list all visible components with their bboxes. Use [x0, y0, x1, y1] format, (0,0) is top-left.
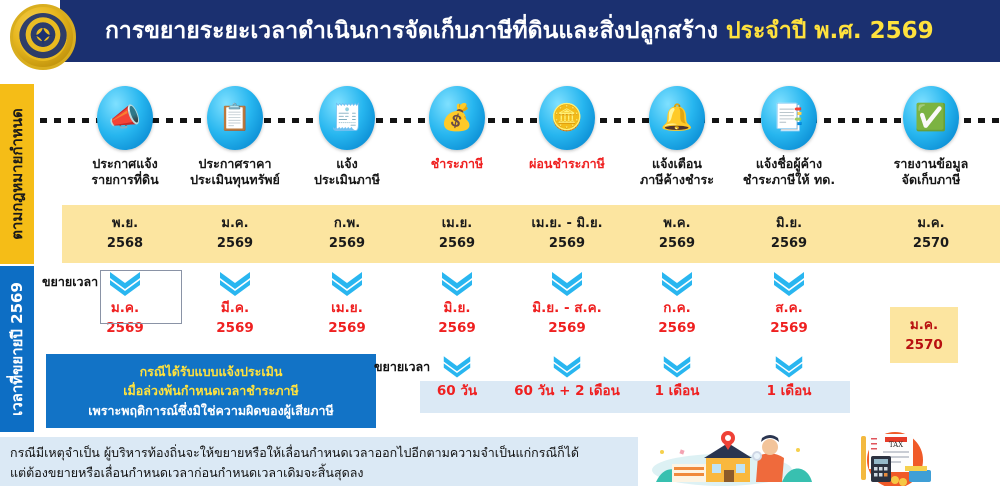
duration-text: 60 วัน: [398, 385, 516, 399]
statutory-year: 2568: [107, 234, 143, 254]
statutory-month-cell-5: เม.ย. - มิ.ย.2569: [508, 205, 626, 263]
svg-text:TAX: TAX: [889, 441, 903, 449]
timeline-step-4: 💰ชำระภาษี: [398, 86, 516, 172]
duration-cell-4: 1 เดือน: [730, 352, 848, 399]
statutory-month: ม.ค.: [221, 214, 248, 234]
step-label-line: รายการที่ดิน: [66, 172, 184, 188]
extended-month: มี.ค.: [176, 299, 294, 319]
statutory-month: ม.ค.: [917, 214, 944, 234]
page-header: การขยายระยะเวลาดำเนินการจัดเก็บภาษีที่ดิ…: [60, 0, 1000, 62]
extended-month: เม.ย.: [288, 299, 406, 319]
step-label-line: แจ้ง: [288, 156, 406, 172]
report-checklist-icon: ✅: [903, 86, 959, 150]
extended-month-cell-4: มิ.ย.2569: [398, 268, 516, 338]
timeline-step-3: 🧾แจ้งประเมินภาษี: [288, 86, 406, 188]
extended-month-text: เม.ย.2569: [288, 299, 406, 338]
timeline-step-5: 🪙ผ่อนชำระภาษี: [508, 86, 626, 172]
timeline-step-8: ✅รายงานข้อมูลจัดเก็บภาษี: [872, 86, 990, 188]
extended-month-cell-7: ส.ค.2569: [730, 268, 848, 338]
timeline-step-2: 📋ประกาศราคาประเมินทุนทรัพย์: [176, 86, 294, 188]
double-chevron-down-icon: [508, 352, 626, 380]
clipboard-appraisal-icon: 📋: [207, 86, 263, 150]
extended-month-cell-5: มิ.ย. - ส.ค.2569: [508, 268, 626, 338]
selection-highlight-box[interactable]: [100, 270, 182, 324]
step-label-line: ชำระภาษี: [398, 156, 516, 172]
step-label-line: ภาษีค้างชำระ: [618, 172, 736, 188]
timeline-step-1: 📣ประกาศแจ้งรายการที่ดิน: [66, 86, 184, 188]
extended-month: มิ.ย.: [398, 299, 516, 319]
timeline-steps: 📣ประกาศแจ้งรายการที่ดิน📋ประกาศราคาประเมิ…: [0, 86, 1000, 201]
step-label-line: รายงานข้อมูล: [872, 156, 990, 172]
double-chevron-down-icon: [176, 268, 294, 298]
title-year: ประจำปี พ.ศ. 2569: [726, 18, 934, 44]
timeline-step-label-4: ชำระภาษี: [398, 156, 516, 172]
statutory-year: 2569: [329, 234, 365, 254]
extended-year: 2569: [618, 319, 736, 339]
double-chevron-down-icon: [288, 268, 406, 298]
tax-calculator-icon: 🧾: [319, 86, 375, 150]
statutory-month-cell-7: มิ.ย.2569: [730, 205, 848, 263]
timeline-step-7: 📑แจ้งชื่อผู้ค้างชำระภาษีให้ ทด.: [730, 86, 848, 188]
statutory-month-cell-8: ม.ค.2570: [872, 205, 990, 263]
double-chevron-down-icon: [618, 352, 736, 380]
double-chevron-down-icon: [618, 268, 736, 298]
double-chevron-down-icon: [508, 268, 626, 298]
extended-year: 2569: [508, 319, 626, 339]
house-inspector-illustration: [650, 430, 820, 486]
extended-month: มิ.ย. - ส.ค.: [508, 299, 626, 319]
statutory-month: พ.ย.: [112, 214, 138, 234]
statutory-month: เม.ย. - มิ.ย.: [531, 214, 602, 234]
step-label-line: ประกาศแจ้ง: [66, 156, 184, 172]
step-label-line: แจ้งเตือน: [618, 156, 736, 172]
statutory-month-cell-3: ก.พ.2569: [288, 205, 406, 263]
timeline-step-label-1: ประกาศแจ้งรายการที่ดิน: [66, 156, 184, 188]
timeline-step-label-3: แจ้งประเมินภาษี: [288, 156, 406, 188]
extended-month-text: ส.ค.2569: [730, 299, 848, 338]
coin-drop-hand-icon: 🪙: [539, 86, 595, 150]
timeline-step-label-2: ประกาศราคาประเมินทุนทรัพย์: [176, 156, 294, 188]
duration-cell-1: 60 วัน: [398, 352, 516, 399]
statutory-month: เม.ย.: [442, 214, 473, 234]
extended-month: ก.ค.: [618, 299, 736, 319]
tax-debtor-list-icon: 📑: [761, 86, 817, 150]
step-label-line: ประกาศราคา: [176, 156, 294, 172]
bottom-illustrations: TAX: [640, 430, 1000, 486]
step-label-line: ประเมินทุนทรัพย์: [176, 172, 294, 188]
extended-year: 2569: [288, 319, 406, 339]
extended-month-text: มี.ค.2569: [176, 299, 294, 338]
double-chevron-down-icon: [730, 268, 848, 298]
statutory-year: 2569: [771, 234, 807, 254]
double-chevron-down-icon: [398, 352, 516, 380]
double-chevron-down-icon: [730, 352, 848, 380]
duration-cell-2: 60 วัน + 2 เดือน: [508, 352, 626, 399]
duration-text: 60 วัน + 2 เดือน: [508, 385, 626, 399]
last-extended-month: ม.ค.: [910, 315, 938, 335]
timeline-step-label-5: ผ่อนชำระภาษี: [508, 156, 626, 172]
duration-row: 60 วัน60 วัน + 2 เดือน1 เดือน1 เดือน: [0, 352, 1000, 414]
step-label-line: ชำระภาษีให้ ทด.: [730, 172, 848, 188]
garuda-seal-icon: ✦: [10, 4, 76, 70]
statutory-month-cell-6: พ.ค.2569: [618, 205, 736, 263]
timeline-step-6: 🔔แจ้งเตือนภาษีค้างชำระ: [618, 86, 736, 188]
extended-month-text: มิ.ย. - ส.ค.2569: [508, 299, 626, 338]
extended-month-text: มิ.ย.2569: [398, 299, 516, 338]
duration-text: 1 เดือน: [618, 385, 736, 399]
statutory-month: มิ.ย.: [776, 214, 802, 234]
notification-bell-icon: 🔔: [649, 86, 705, 150]
double-chevron-down-icon: [398, 268, 516, 298]
statutory-month-cell-2: ม.ค.2569: [176, 205, 294, 263]
money-bag-hand-icon: 💰: [429, 86, 485, 150]
extended-year: 2569: [398, 319, 516, 339]
extended-month: ส.ค.: [730, 299, 848, 319]
timeline-step-label-7: แจ้งชื่อผู้ค้างชำระภาษีให้ ทด.: [730, 156, 848, 188]
page-title: การขยายระยะเวลาดำเนินการจัดเก็บภาษีที่ดิ…: [105, 13, 934, 49]
footer-note-line1: กรณีมีเหตุจำเป็น ผู้บริหารท้องถิ่นจะให้ข…: [10, 443, 628, 463]
extended-year: 2569: [176, 319, 294, 339]
statutory-month-cell-1: พ.ย.2568: [66, 205, 184, 263]
timeline-step-label-8: รายงานข้อมูลจัดเก็บภาษี: [872, 156, 990, 188]
statutory-month: พ.ค.: [663, 214, 690, 234]
footer-note: กรณีมีเหตุจำเป็น ผู้บริหารท้องถิ่นจะให้ข…: [0, 437, 638, 486]
extended-month-cell-2: มี.ค.2569: [176, 268, 294, 338]
step-label-line: จัดเก็บภาษี: [872, 172, 990, 188]
statutory-year: 2569: [439, 234, 475, 254]
extended-month-cell-3: เม.ย.2569: [288, 268, 406, 338]
extended-month-text: ก.ค.2569: [618, 299, 736, 338]
statutory-year: 2570: [913, 234, 949, 254]
timeline-step-label-6: แจ้งเตือนภาษีค้างชำระ: [618, 156, 736, 188]
statutory-year: 2569: [549, 234, 585, 254]
footer-note-line2: แต่ต้องขยายหรือเลื่อนกำหนดเวลาก่อนกำหนดเ…: [10, 463, 628, 483]
statutory-year: 2569: [659, 234, 695, 254]
step-label-line: แจ้งชื่อผู้ค้าง: [730, 156, 848, 172]
duration-cell-3: 1 เดือน: [618, 352, 736, 399]
seal-glyph: ✦: [13, 24, 73, 50]
title-main: การขยายระยะเวลาดำเนินการจัดเก็บภาษีที่ดิ…: [105, 18, 718, 44]
statutory-month-cell-4: เม.ย.2569: [398, 205, 516, 263]
step-label-line: ผ่อนชำระภาษี: [508, 156, 626, 172]
statutory-year: 2569: [217, 234, 253, 254]
duration-text: 1 เดือน: [730, 385, 848, 399]
statutory-month-row: พ.ย.2568ม.ค.2569ก.พ.2569เม.ย.2569เม.ย. -…: [62, 205, 1000, 263]
extended-month-cell-6: ก.ค.2569: [618, 268, 736, 338]
tax-document-calculator-illustration: TAX: [835, 430, 955, 486]
infographic-page: การขยายระยะเวลาดำเนินการจัดเก็บภาษีที่ดิ…: [0, 0, 1000, 486]
statutory-month: ก.พ.: [334, 214, 360, 234]
extended-year: 2569: [730, 319, 848, 339]
megaphone-icon: 📣: [97, 86, 153, 150]
step-label-line: ประเมินภาษี: [288, 172, 406, 188]
